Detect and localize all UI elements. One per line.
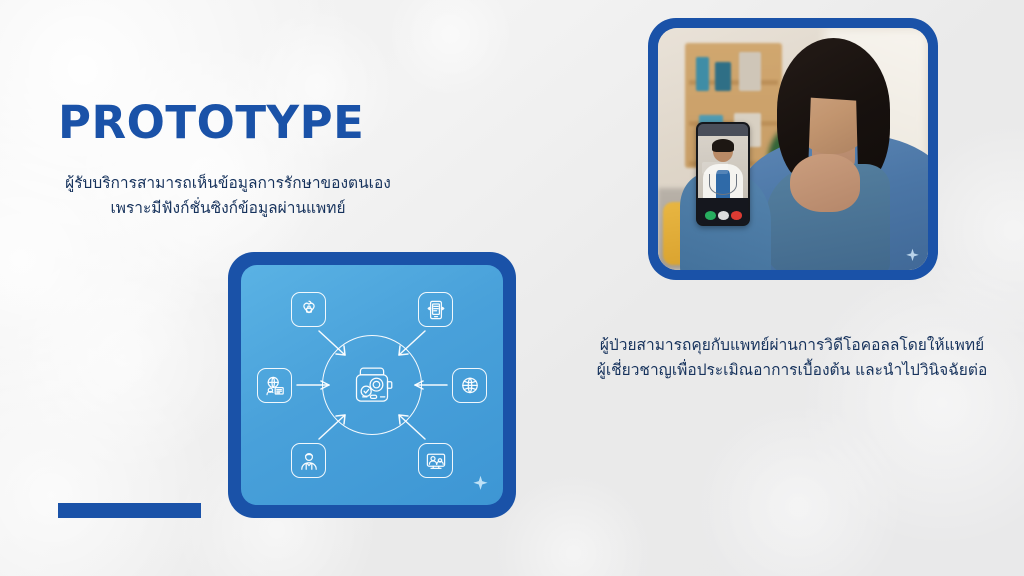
photo-decor <box>696 57 710 91</box>
photo-telemedicine-consultation <box>658 28 928 270</box>
caption-text: ผู้ป่วยสามารถคุยกับแพทย์ผ่านการวิดีโอคอล… <box>596 333 988 383</box>
satellite-icon-heart-shield-lock <box>291 292 326 327</box>
page-title: PROTOTYPE <box>58 96 364 149</box>
photo-frame <box>648 18 938 280</box>
illustration-inner <box>241 265 503 505</box>
subtitle-line-2: เพราะมีฟังก์ชั่นซิงก์ข้อมูลผ่านแพทย์ <box>48 196 408 221</box>
satellite-icon-video-conference <box>418 443 453 478</box>
caption-line-1: ผู้ป่วยสามารถคุยกับแพทย์ผ่านการวิดีโอคอล… <box>596 333 988 358</box>
phone-status-bar <box>698 124 748 136</box>
phone-call-controls <box>698 198 748 224</box>
phone-screen <box>698 124 748 224</box>
subtitle-text: ผู้รับบริการสามารถเห็นข้อมูลการรักษาของต… <box>48 171 408 221</box>
satellite-icon-doctor-profile <box>291 443 326 478</box>
sparkle-icon <box>472 475 489 492</box>
illustration-card <box>228 252 516 518</box>
photo-decor <box>739 52 761 91</box>
photo-decor <box>715 62 731 91</box>
phone-caller-label <box>702 162 728 174</box>
accept-call-button[interactable] <box>705 211 716 220</box>
doctor-hair <box>712 139 734 151</box>
mute-button[interactable] <box>718 211 729 220</box>
hub-smart-medical-device-icon <box>322 335 422 435</box>
end-call-button[interactable] <box>731 211 742 220</box>
photo-person-hand-on-throat <box>790 154 860 212</box>
subtitle-line-1: ผู้รับบริการสามารถเห็นข้อมูลการรักษาของต… <box>48 171 408 196</box>
caption-line-2: ผู้เชี่ยวชาญเพื่อประเมิณอาการเบื้องต้น แ… <box>596 358 988 383</box>
doctor-stethoscope <box>709 174 737 195</box>
satellite-icon-globe-network <box>452 368 487 403</box>
sparkle-icon <box>905 248 920 263</box>
photo-smartphone <box>696 122 750 226</box>
slide-canvas: PROTOTYPE ผู้รับบริการสามารถเห็นข้อมูลกา… <box>0 0 1024 576</box>
satellite-icon-tablet-record <box>418 292 453 327</box>
satellite-icon-global-patient-data <box>257 368 292 403</box>
accent-bar <box>58 503 201 518</box>
